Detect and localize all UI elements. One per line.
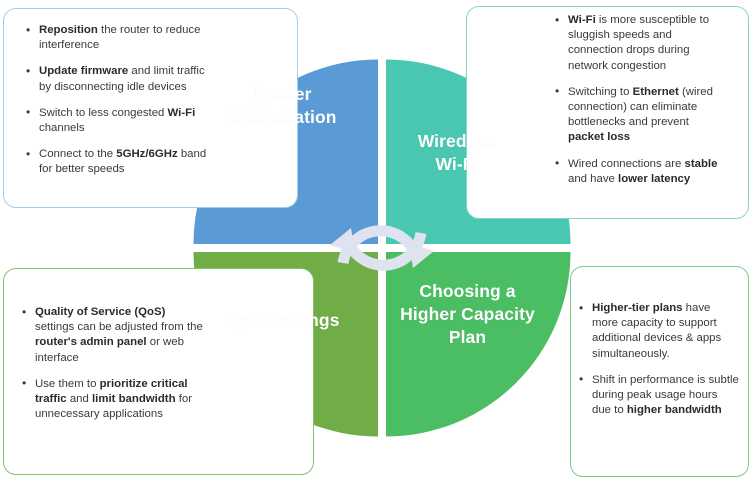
bullet-list: Wi-Fi is more susceptible to sluggish sp… [555,13,725,187]
quadrant-label-line2: Optimization [229,107,336,127]
quadrant-label-line1: Router [255,84,312,104]
bullet-item: Higher-tier plans have more capacity to … [579,301,739,362]
circular-refresh-arrows-icon [330,228,434,268]
bullet-item: Switch to less congested Wi-Fi channels [26,106,216,136]
quadrant-label-line2: Higher Capacity [400,304,535,324]
quadrant-label-line3: Plan [449,327,486,347]
quadrant-label-line1: Choosing a [419,281,515,301]
bullet-item: Wired connections are stable and have lo… [555,157,725,187]
bullet-item: Connect to the 5GHz/6GHz band for better… [26,147,216,177]
quadrant-label-line1: Wired vs. [418,131,497,151]
bullet-item: Update firmware and limit traffic by dis… [26,64,216,94]
quadrant-label-line2: Wi-Fi [435,154,478,174]
quadrant-label-qos-settings: QoS Settings [196,309,372,332]
quadrant-label-line1: QoS Settings [228,310,339,330]
bullet-item: Shift in performance is subtle during pe… [579,373,739,419]
callout-panel-qos-settings: Quality of Service (QoS) settings can be… [3,268,314,475]
diagram-canvas: Router Optimization Wired vs. Wi-Fi QoS … [0,0,753,483]
bullet-item: Reposition the router to reduce interfer… [26,23,216,53]
callout-panel-wired-vs-wifi: Wi-Fi is more susceptible to sluggish sp… [466,6,749,219]
quadrant-label-higher-capacity-plan: Choosing a Higher Capacity Plan [380,280,555,349]
callout-panel-higher-capacity-plan: Higher-tier plans have more capacity to … [570,266,749,477]
bullet-item: Quality of Service (QoS) settings can be… [22,305,207,366]
bullet-list: Quality of Service (QoS) settings can be… [22,305,207,422]
bullet-item: Wi-Fi is more susceptible to sluggish sp… [555,13,725,74]
bullet-list: Higher-tier plans have more capacity to … [579,301,739,418]
bullet-item: Use them to prioritize critical traffic … [22,377,207,423]
quadrant-label-wired-vs-wifi: Wired vs. Wi-Fi [382,130,532,176]
bullet-list: Reposition the router to reduce interfer… [26,23,216,178]
quadrant-label-router-optimization: Router Optimization [195,83,371,129]
bullet-item: Switching to Ethernet (wired connection)… [555,85,725,146]
